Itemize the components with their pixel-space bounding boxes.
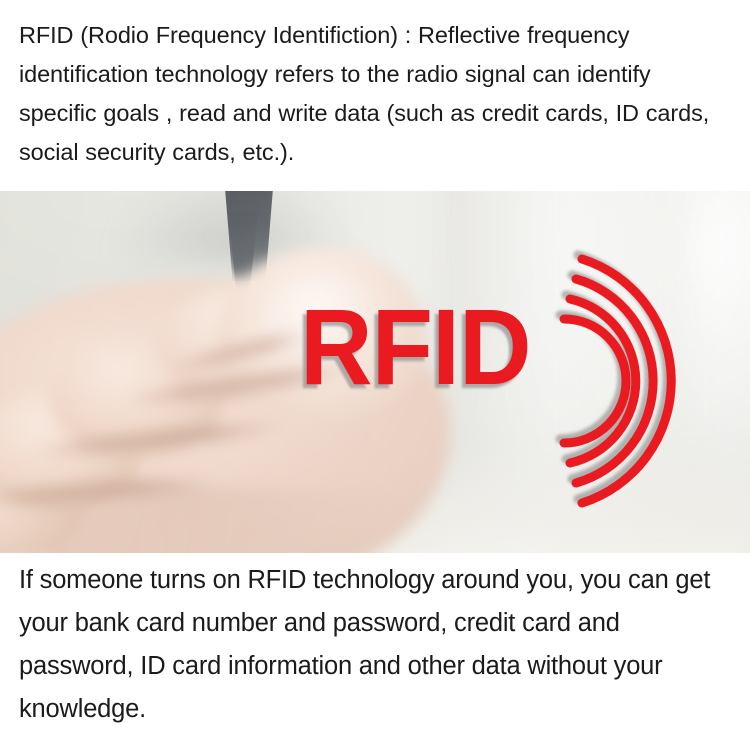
rfid-logo: RFID RFID: [0, 191, 750, 553]
top-description-block: RFID (Rodio Frequency Identifiction) : R…: [0, 0, 750, 191]
rfid-signal-arcs-icon: [0, 191, 750, 553]
bottom-description-block: If someone turns on RFID technology arou…: [0, 553, 750, 750]
rfid-info-page: RFID (Rodio Frequency Identifiction) : R…: [0, 0, 750, 750]
top-paragraph: RFID (Rodio Frequency Identifiction) : R…: [19, 16, 734, 172]
rfid-photo: RFID RFID: [0, 191, 750, 553]
bottom-paragraph: If someone turns on RFID technology arou…: [19, 559, 734, 731]
